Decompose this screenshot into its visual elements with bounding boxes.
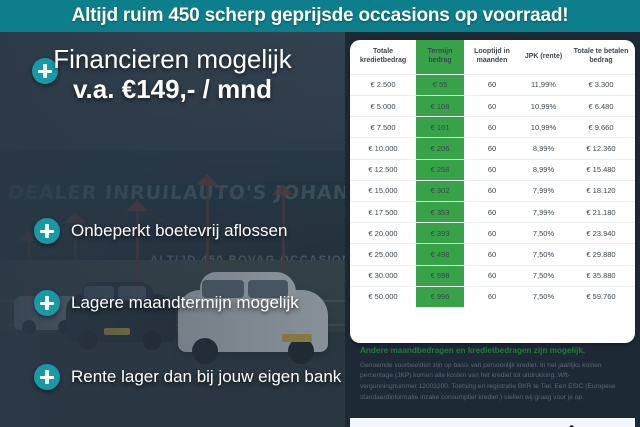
- disclaimer-body: Genoemde voorbeelden zijn op basis van p…: [350, 361, 635, 404]
- table-cell: 10,99%: [520, 96, 567, 117]
- table-cell: € 23.940: [567, 223, 635, 244]
- table-row: € 10.000€ 206608,99%€ 12.360: [350, 138, 635, 159]
- table-cell: 60: [464, 223, 520, 244]
- plus-circle-icon: [34, 290, 60, 316]
- table-cell: 10,99%: [520, 117, 567, 138]
- table-cell: € 15.000: [350, 180, 416, 201]
- table-cell: 7,50%: [520, 223, 567, 244]
- table-cell: 60: [464, 286, 520, 307]
- table-cell: € 9.660: [567, 117, 635, 138]
- table-cell: 60: [464, 159, 520, 180]
- table-cell: 7,50%: [520, 244, 567, 265]
- table-cell: € 12.500: [350, 159, 416, 180]
- table-row: € 7.500€ 1616010,99%€ 9.660: [350, 117, 635, 138]
- table-column-header: Looptijd in maanden: [464, 40, 520, 74]
- table-row: € 50.000€ 996607,50%€ 59.760: [350, 286, 635, 307]
- table-cell: € 20.000: [350, 223, 416, 244]
- afm-warning-banner: Let op! Geld lenen kost geld: [350, 418, 635, 427]
- table-column-header: JPK (rente): [520, 40, 567, 74]
- table-cell: 60: [464, 180, 520, 201]
- table-cell: € 302: [416, 180, 464, 201]
- table-cell: € 498: [416, 244, 464, 265]
- table-row: € 30.000€ 598607,50%€ 35.880: [350, 265, 635, 286]
- table-body: € 2.500€ 556011,99%€ 3.300€ 5.000€ 10860…: [350, 74, 635, 307]
- headline-line-1: Financieren mogelijk: [0, 46, 345, 73]
- table-cell: € 996: [416, 286, 464, 307]
- table-cell: 7,50%: [520, 286, 567, 307]
- table-cell: € 15.480: [567, 159, 635, 180]
- table-cell: 60: [464, 202, 520, 223]
- table-cell: 60: [464, 117, 520, 138]
- promo-headline: Financieren mogelijk v.a. €149,- / mnd: [0, 46, 345, 105]
- table-cell: 7,99%: [520, 180, 567, 201]
- table-cell: 7,50%: [520, 265, 567, 286]
- plus-circle-icon: [34, 218, 60, 244]
- disclaimer-title: Andere maandbedragen en kredietbedragen …: [350, 346, 635, 361]
- promo-banner-screenshot: DEALER INRUILAUTO'S JOHAN MEURE ALTIJD 4…: [0, 0, 640, 427]
- promo-bullet-label: Onbeperkt boetevrij aflossen: [71, 221, 287, 241]
- table-cell: € 17.500: [350, 202, 416, 223]
- table-row: € 17.500€ 353607,99%€ 21.180: [350, 202, 635, 223]
- table-cell: 8,99%: [520, 159, 567, 180]
- table-cell: € 353: [416, 202, 464, 223]
- table-cell: € 108: [416, 96, 464, 117]
- table-row: € 2.500€ 556011,99%€ 3.300: [350, 74, 635, 95]
- finance-info-panel: Totale kredietbedragTermijn bedragLoopti…: [345, 32, 640, 427]
- table-cell: € 5.000: [350, 96, 416, 117]
- table-cell: 60: [464, 244, 520, 265]
- table-cell: 7,99%: [520, 202, 567, 223]
- table-cell: € 161: [416, 117, 464, 138]
- table-cell: € 598: [416, 265, 464, 286]
- table-cell: € 12.360: [567, 138, 635, 159]
- promo-bullet-label: Lagere maandtermijn mogelijk: [71, 293, 299, 313]
- table-cell: € 399: [416, 223, 464, 244]
- table-cell: € 206: [416, 138, 464, 159]
- table-cell: € 2.500: [350, 74, 416, 95]
- table-cell: € 55: [416, 74, 464, 95]
- disclaimer-block: Andere maandbedragen en kredietbedragen …: [350, 346, 635, 403]
- table-cell: € 25.000: [350, 244, 416, 265]
- table-column-header: Totale te betalen bedrag: [567, 40, 635, 74]
- table-cell: € 29.880: [567, 244, 635, 265]
- table-cell: € 7.500: [350, 117, 416, 138]
- table-cell: 60: [464, 74, 520, 95]
- table-row: € 25.000€ 498607,50%€ 29.880: [350, 244, 635, 265]
- top-banner: Altijd ruim 450 scherp geprijsde occasio…: [0, 0, 640, 32]
- table-cell: € 59.760: [567, 286, 635, 307]
- table-header-row: Totale kredietbedragTermijn bedragLoopti…: [350, 40, 635, 74]
- table-cell: € 35.880: [567, 265, 635, 286]
- table-cell: 60: [464, 138, 520, 159]
- table-row: € 20.000€ 399607,50%€ 23.940: [350, 223, 635, 244]
- table-row: € 15.000€ 302607,99%€ 18.120: [350, 180, 635, 201]
- table-cell: 60: [464, 96, 520, 117]
- promo-bullet-item: Lagere maandtermijn mogelijk: [34, 290, 299, 316]
- promo-bullet-item: Rente lager dan bij jouw eigen bank: [34, 364, 341, 390]
- table-row: € 5.000€ 1086010,99%€ 6.480: [350, 96, 635, 117]
- plus-circle-icon: [34, 364, 60, 390]
- table-cell: 60: [464, 265, 520, 286]
- rates-card: Totale kredietbedragTermijn bedragLoopti…: [350, 40, 635, 343]
- promo-bullet-label: Rente lager dan bij jouw eigen bank: [71, 367, 341, 387]
- table-cell: 8,99%: [520, 138, 567, 159]
- top-banner-text: Altijd ruim 450 scherp geprijsde occasio…: [72, 5, 569, 27]
- table-cell: 11,99%: [520, 74, 567, 95]
- table-cell: € 50.000: [350, 286, 416, 307]
- headline-line-2: v.a. €149,- / mnd: [0, 75, 345, 105]
- table-cell: € 258: [416, 159, 464, 180]
- table-cell: € 10.000: [350, 138, 416, 159]
- table-row: € 12.500€ 258608,99%€ 15.480: [350, 159, 635, 180]
- table-cell: € 30.000: [350, 265, 416, 286]
- promo-bullet-item: Onbeperkt boetevrij aflossen: [34, 218, 287, 244]
- promo-left-column: Financieren mogelijk v.a. €149,- / mnd O…: [0, 32, 345, 427]
- finance-rates-table: Totale kredietbedragTermijn bedragLoopti…: [350, 40, 635, 307]
- table-cell: € 6.480: [567, 96, 635, 117]
- table-cell: € 21.180: [567, 202, 635, 223]
- table-cell: € 3.300: [567, 74, 635, 95]
- table-column-header: Termijn bedrag: [416, 40, 464, 74]
- table-column-header: Totale kredietbedrag: [350, 40, 416, 74]
- table-cell: € 18.120: [567, 180, 635, 201]
